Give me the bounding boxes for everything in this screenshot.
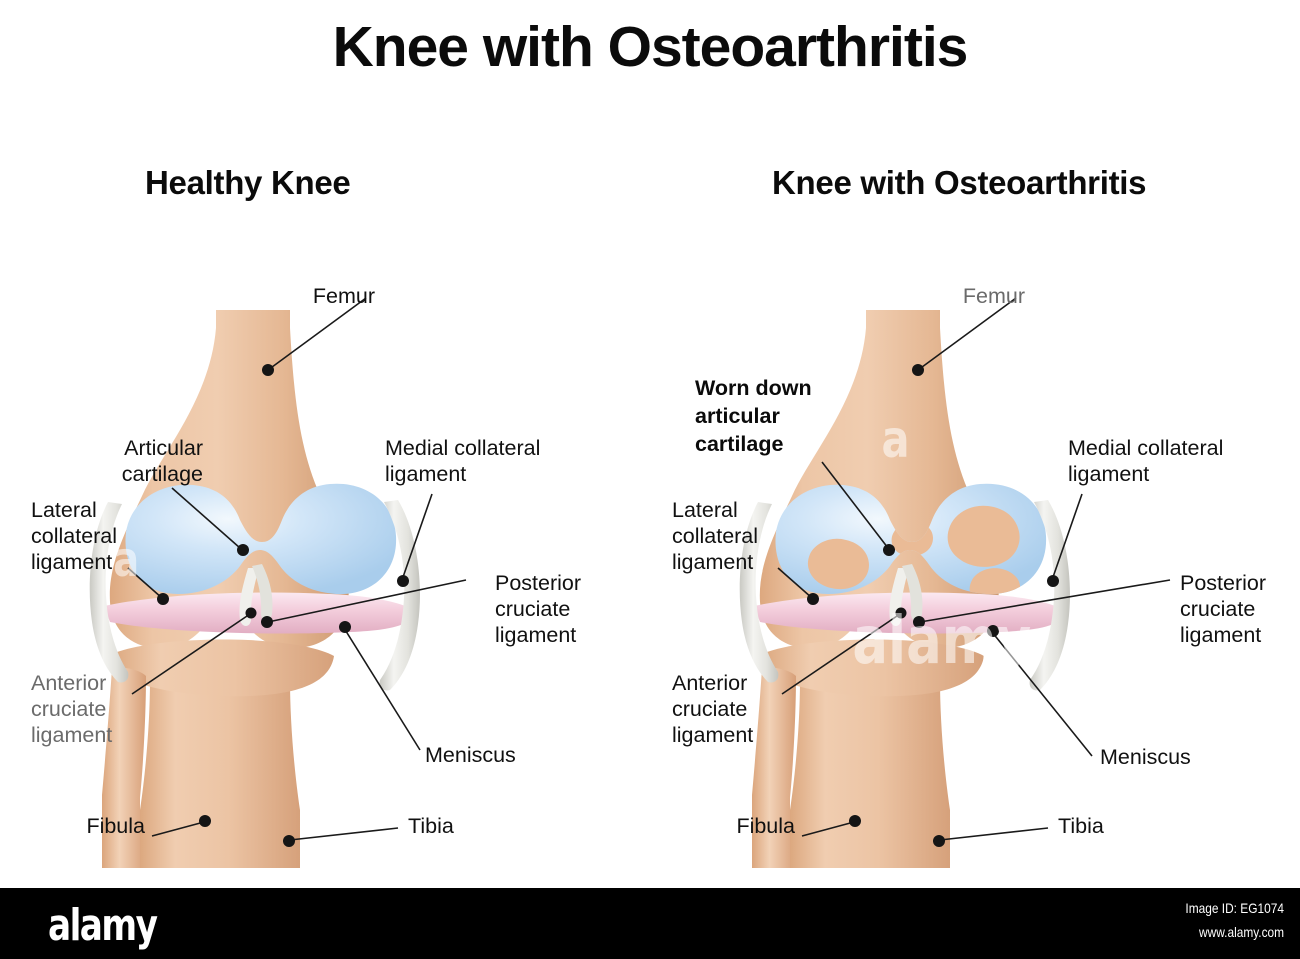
worn-patch-upper-right <box>948 506 1020 567</box>
page-title: Knee with Osteoarthritis <box>0 14 1300 80</box>
panel-subtitle-healthy: Healthy Knee <box>145 164 350 202</box>
dot-fibula <box>849 815 861 827</box>
label-medial-collateral-ligament: Medial collateral ligament <box>385 435 585 487</box>
osteoarthritis-knee-panel: a alamy Femur Worn down articular cartil… <box>650 250 1300 880</box>
label-femur: Femur <box>260 283 375 309</box>
dot-lateral-collateral <box>157 593 169 605</box>
dot-medial-collateral <box>1047 575 1059 587</box>
label-tibia: Tibia <box>1058 813 1178 839</box>
label-femur: Femur <box>910 283 1025 309</box>
dot-posterior-cruciate <box>913 616 925 628</box>
dot-femur <box>262 364 274 376</box>
label-posterior-cruciate-ligament: Posterior cruciate ligament <box>495 570 645 648</box>
dot-posterior-cruciate <box>261 616 273 628</box>
meniscus <box>104 593 414 634</box>
label-tibia: Tibia <box>408 813 528 839</box>
image-id-text: Image ID: EG1074 <box>1185 900 1284 916</box>
dot-medial-collateral <box>397 575 409 587</box>
label-fibula: Fibula <box>15 813 145 839</box>
meniscus <box>754 593 1064 634</box>
dot-lateral-collateral <box>807 593 819 605</box>
alamy-url-text: www.alamy.com <box>1199 924 1284 940</box>
alamy-footer-bar: alamy Image ID: EG1074 www.alamy.com <box>0 888 1300 959</box>
label-anterior-cruciate-ligament: Anterior cruciate ligament <box>672 670 822 748</box>
dot-femur <box>912 364 924 376</box>
label-meniscus: Meniscus <box>1100 744 1240 770</box>
dot-anterior-cruciate <box>246 608 257 619</box>
dot-anterior-cruciate <box>896 608 907 619</box>
leader-meniscus <box>992 632 1092 756</box>
label-meniscus: Meniscus <box>425 742 565 768</box>
dot-worn-cartilage <box>883 544 895 556</box>
label-anterior-cruciate-ligament: Anterior cruciate ligament <box>31 670 181 748</box>
dot-tibia <box>283 835 295 847</box>
dot-meniscus <box>987 625 999 637</box>
dot-tibia <box>933 835 945 847</box>
dot-fibula <box>199 815 211 827</box>
dot-meniscus <box>339 621 351 633</box>
label-medial-collateral-ligament: Medial collateral ligament <box>1068 435 1278 487</box>
poster-root: Knee with Osteoarthritis Healthy Knee Kn… <box>0 0 1300 959</box>
leader-tibia <box>290 828 398 840</box>
healthy-knee-panel: a Femur Articular cartilage Medial colla… <box>0 250 650 880</box>
leader-tibia <box>940 828 1048 840</box>
label-fibula: Fibula <box>665 813 795 839</box>
label-lateral-collateral-ligament: Lateral collateral ligament <box>31 497 171 575</box>
label-lateral-collateral-ligament: Lateral collateral ligament <box>672 497 812 575</box>
dot-articular-cartilage <box>237 544 249 556</box>
alamy-logo: alamy <box>48 900 156 951</box>
label-worn-articular-cartilage: Worn down articular cartilage <box>695 374 880 458</box>
label-posterior-cruciate-ligament: Posterior cruciate ligament <box>1180 570 1300 648</box>
label-articular-cartilage: Articular cartilage <box>75 435 203 487</box>
panel-subtitle-osteoarthritis: Knee with Osteoarthritis <box>772 164 1146 202</box>
